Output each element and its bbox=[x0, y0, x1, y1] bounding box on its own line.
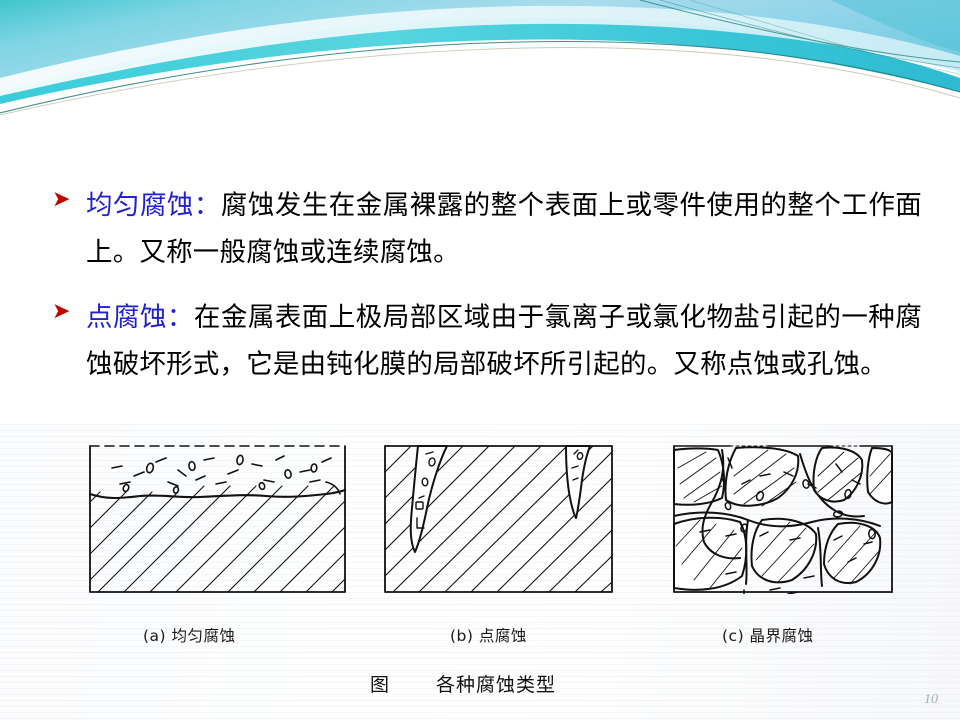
uniform-corrosion-diagram bbox=[90, 446, 345, 592]
figure-caption-b: (b) 点腐蚀 bbox=[450, 624, 527, 646]
term-uniform-corrosion: 均匀腐蚀： bbox=[86, 190, 221, 220]
definition-pitting-corrosion: 在金属表面上极局部区域由于氯离子或氯化物盐引起的一种腐蚀破坏形式，它是由钝化膜的… bbox=[86, 302, 922, 379]
figure-caption-c: (c) 晶界腐蚀 bbox=[722, 624, 814, 646]
bullet-paragraph-uniform-corrosion: ➤均匀腐蚀：腐蚀发生在金属裸露的整个表面上或零件使用的整个工作面上。又称一般腐蚀… bbox=[52, 182, 922, 276]
figure-title-label: 图 bbox=[370, 674, 390, 696]
slide-body-text: ➤均匀腐蚀：腐蚀发生在金属裸露的整个表面上或零件使用的整个工作面上。又称一般腐蚀… bbox=[52, 182, 922, 388]
figure-caption-a: (a) 均匀腐蚀 bbox=[143, 624, 236, 646]
arrow-bullet-icon: ➤ bbox=[52, 297, 78, 327]
bullet-paragraph-pitting-corrosion: ➤点腐蚀：在金属表面上极局部区域由于氯离子或氯化物盐引起的一种腐蚀破坏形式，它是… bbox=[52, 294, 922, 388]
figure-title-text: 各种腐蚀类型 bbox=[436, 674, 556, 696]
arrow-bullet-icon: ➤ bbox=[52, 185, 78, 215]
figure-title: 图各种腐蚀类型 bbox=[370, 670, 556, 697]
term-pitting-corrosion: 点腐蚀： bbox=[86, 302, 194, 332]
presentation-slide: ➤均匀腐蚀：腐蚀发生在金属裸露的整个表面上或零件使用的整个工作面上。又称一般腐蚀… bbox=[0, 0, 960, 720]
intergranular-corrosion-diagram bbox=[674, 446, 892, 598]
page-number: 10 bbox=[924, 692, 938, 708]
pitting-corrosion-diagram bbox=[385, 446, 612, 592]
decorative-wave-banner bbox=[0, 0, 960, 115]
